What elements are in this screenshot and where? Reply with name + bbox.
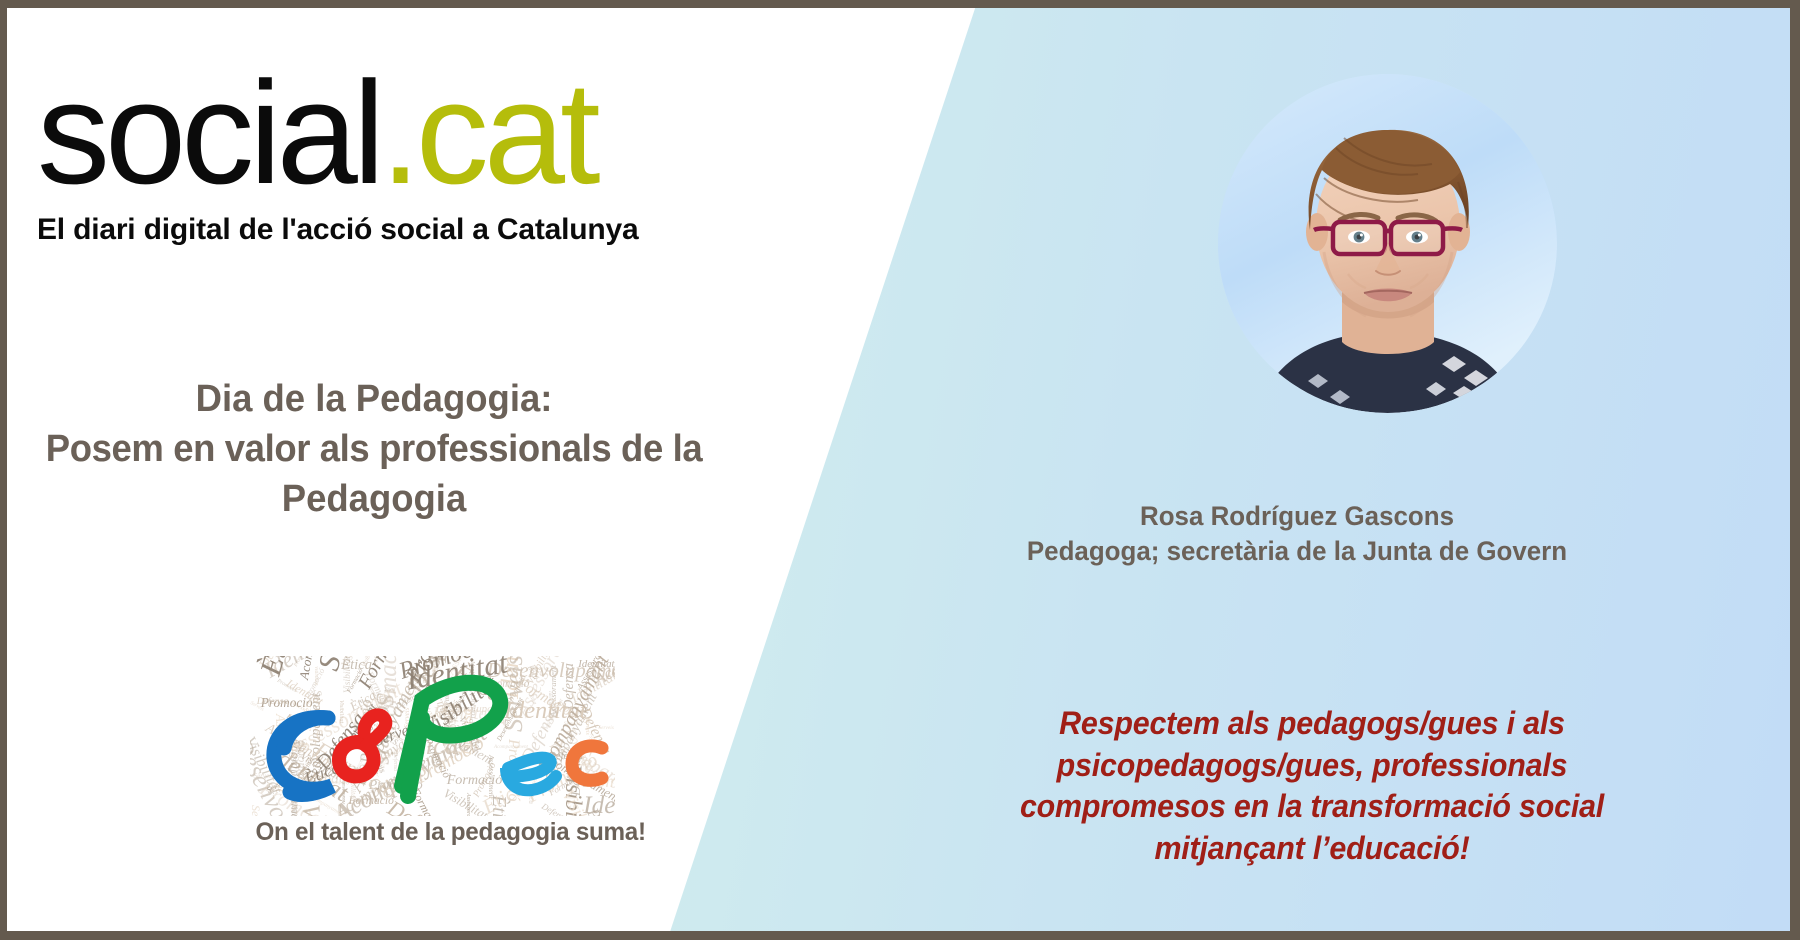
person-role: Pedagoga; secretària de la Junta de Gove… — [1019, 536, 1576, 568]
headline-line-2: Posem en valor als professionals de la — [29, 424, 718, 474]
page-title: Dia de la Pedagogia: Posem en valor als … — [29, 374, 718, 524]
brand-wordmark: social.cat — [37, 63, 757, 203]
copec-letters — [250, 656, 615, 816]
quote-line-4: mitjançant l’educació! — [961, 828, 1664, 870]
avatar — [1218, 74, 1557, 413]
quote-line-2: psicopedagogs/gues, professionals — [961, 745, 1664, 787]
brand-tagline: El diari digital de l'acció social a Cat… — [37, 213, 757, 247]
brand-logo: social.cat El diari digital de l'acció s… — [37, 63, 757, 247]
brand-wordmark-green: .cat — [380, 51, 595, 214]
copec-tagline: On el talent de la pedagogia suma! — [255, 818, 609, 847]
quote-line-3: compromesos en la transformació social — [961, 786, 1664, 828]
poster-canvas: social.cat El diari digital de l'acció s… — [0, 0, 1800, 940]
portrait-photo — [1218, 74, 1557, 413]
copec-wordcloud-logo: PromocióFormacióIdentitatDesenvolupament… — [250, 656, 615, 816]
headline-line-3: Pedagogia — [29, 474, 718, 524]
headline-line-1: Dia de la Pedagogia: — [29, 374, 718, 424]
quote-line-1: Respectem als pedagogs/gues i als — [961, 703, 1664, 745]
pull-quote: Respectem als pedagogs/gues i als psicop… — [961, 703, 1664, 869]
left-column: social.cat El diari digital de l'acció s… — [7, 8, 747, 931]
person-name: Rosa Rodríguez Gascons — [1057, 501, 1537, 533]
brand-wordmark-black: social — [37, 51, 380, 214]
